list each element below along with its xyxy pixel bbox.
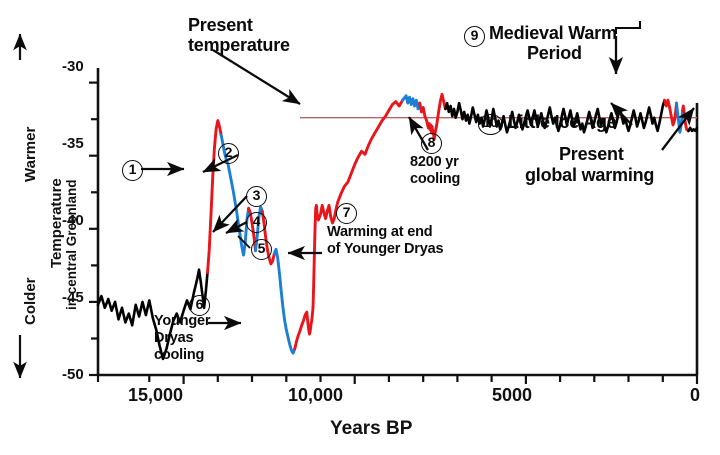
present-warming-label-line2: global warming [525,166,654,185]
y-tick-label-minus40: -40 [62,212,84,229]
younger-dryas-label-line3: cooling [154,348,204,364]
x-tick-label-10000: 10,000 [288,385,343,406]
warming-end-label-line2: of Younger Dryas [327,242,443,258]
younger-dryas-label-line1: Younger [154,314,210,330]
medieval-warm-label-line2: Period [527,44,582,63]
marker-3: 3 [246,186,267,207]
cooling-8200-label-line1: 8200 yr [410,155,459,171]
x-tick-label-15000: 15,000 [128,385,183,406]
medieval-warm-label-line1: Medieval Warm [489,24,617,43]
x-tick-label-5000: 5000 [492,385,532,406]
y-tick-label-minus50: -50 [62,366,84,383]
y-tick-label-minus45: -45 [62,289,84,306]
y-tick-label-minus35: -35 [62,135,84,152]
x-axis-title: Years BP [330,418,412,440]
present-temperature-label-line2: temperature [188,36,290,55]
marker-8: 8 [421,133,442,154]
marker-1: 1 [122,160,143,181]
little-ice-age-label: Little Ice Age [508,113,617,132]
marker-5: 5 [251,239,272,260]
marker-4: 4 [246,212,267,233]
marker-9: 9 [464,26,485,47]
present-warming-label-line1: Present [559,145,624,164]
warming-end-label-line1: Warming at end [327,225,432,241]
marker-2: 2 [218,143,239,164]
y-tick-label-minus30: -30 [62,58,84,75]
chart-canvas: Warmer Colder Temperature in central Gre… [0,0,720,455]
marker-7: 7 [336,203,357,224]
x-tick-label-0: 0 [690,385,700,406]
marker-10: 10 [478,114,503,135]
younger-dryas-label-line2: Dryas [154,331,193,347]
cooling-8200-label-line2: cooling [410,172,460,188]
present-temperature-label-line1: Present [188,16,253,35]
